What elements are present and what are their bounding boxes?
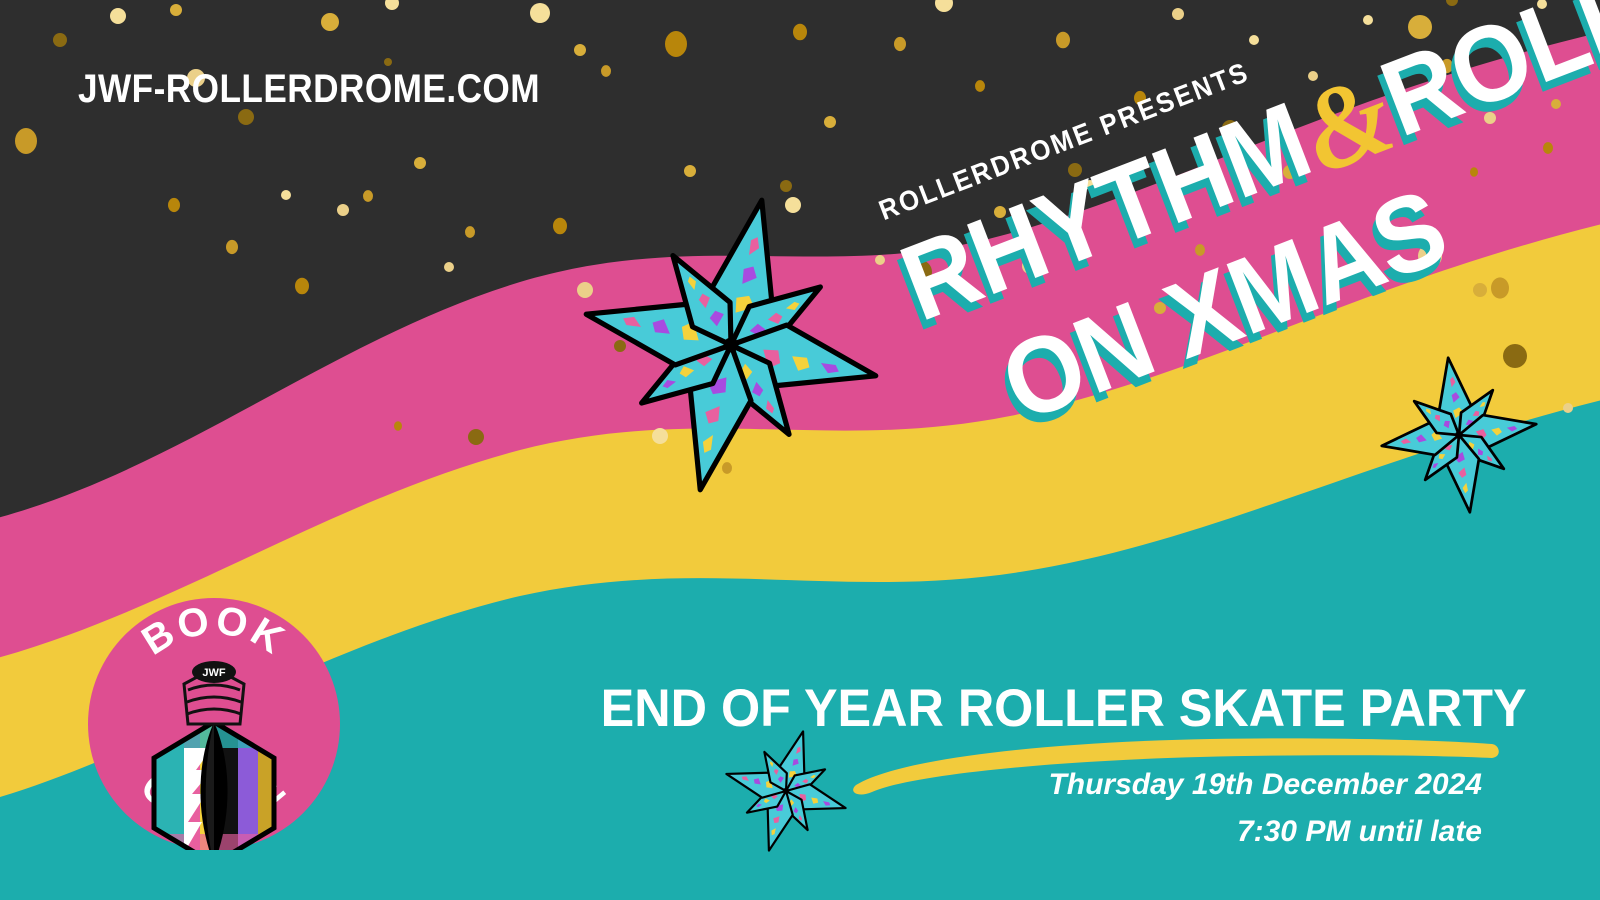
event-date: Thursday 19th December 2024 xyxy=(842,762,1482,809)
ornament-mark: JWF xyxy=(202,667,226,679)
event-headline: END OF YEAR ROLLER SKATE PARTY xyxy=(601,678,1462,739)
event-time: 7:30 PM until late xyxy=(842,809,1482,856)
book-online-badge[interactable]: BOOK ONLINE xyxy=(88,598,340,850)
event-details: Thursday 19th December 2024 7:30 PM unti… xyxy=(842,762,1482,855)
promo-poster: JWF-ROLLERDROME.COM ROLLERDROME PRESENTS… xyxy=(0,0,1600,900)
